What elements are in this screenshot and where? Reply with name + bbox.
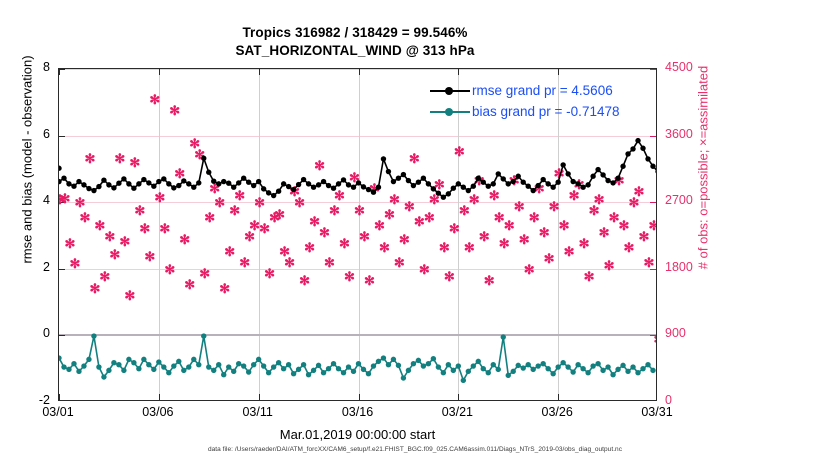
series-marker: [540, 177, 545, 182]
series-marker: [316, 182, 321, 187]
series-marker: [121, 368, 126, 373]
series-marker: [610, 180, 615, 185]
series-marker: [560, 360, 565, 365]
series-marker: [496, 367, 501, 372]
series-marker: [291, 187, 296, 192]
series-marker: [61, 176, 66, 181]
series-marker: [206, 170, 211, 175]
series-marker: [645, 156, 650, 161]
series-marker: [221, 179, 226, 184]
series-marker: [116, 181, 121, 186]
series-marker: [555, 180, 560, 185]
series-marker: [516, 174, 521, 179]
y-axis-ticklabel-left: 2: [10, 260, 50, 274]
y-axis-ticklabel-left: 4: [10, 193, 50, 207]
legend-item-bias[interactable]: bias grand pr = -0.71478: [428, 101, 653, 122]
series-marker: [361, 367, 366, 372]
series-marker: [201, 333, 206, 338]
x-axis-label: Mar.01,2019 00:00:00 start: [58, 427, 657, 442]
series-marker: [341, 177, 346, 182]
series-marker: [136, 366, 141, 371]
series-marker: [186, 181, 191, 186]
series-marker: [311, 368, 316, 373]
series-marker: [246, 180, 251, 185]
x-axis-ticklabel: 03/11: [223, 405, 293, 419]
series-marker: [361, 184, 366, 189]
series-marker: [521, 365, 526, 370]
series-marker: [585, 370, 590, 375]
x-axis-ticklabel: 03/06: [123, 405, 193, 419]
series-marker: [101, 374, 106, 379]
series-marker: [286, 362, 291, 367]
series-marker: [570, 179, 575, 184]
y-axis-ticklabel-right: 3600: [665, 127, 715, 141]
series-marker: [301, 362, 306, 367]
series-marker: [645, 362, 650, 367]
series-marker: [600, 172, 605, 177]
series-marker: [321, 179, 326, 184]
series-marker: [376, 359, 381, 364]
series-marker: [91, 188, 96, 193]
series-marker: [401, 172, 406, 177]
series-marker: [351, 185, 356, 190]
series-marker: [595, 167, 600, 172]
series-marker: [545, 366, 550, 371]
y-axis-label-right: # of obs: o=possible; ×=assimilated: [696, 3, 711, 333]
series-marker: [346, 364, 351, 369]
series-marker: [531, 367, 536, 372]
series-marker: [580, 366, 585, 371]
series-marker: [96, 184, 101, 189]
series-marker: [186, 364, 191, 369]
series-marker: [246, 369, 251, 374]
x-axis-ticklabel: 03/26: [522, 405, 592, 419]
series-marker: [416, 180, 421, 185]
series-marker: [640, 146, 645, 151]
series-line: [59, 141, 656, 198]
series-marker: [501, 334, 506, 339]
series-marker: [421, 363, 426, 368]
series-marker: [565, 364, 570, 369]
series-marker: [456, 181, 461, 186]
series-marker: [131, 186, 136, 191]
series-marker: [126, 357, 131, 362]
series-marker: [61, 364, 66, 369]
y-axis-ticklabel-right: 2700: [665, 193, 715, 207]
series-marker: [570, 369, 575, 374]
series-marker: [531, 188, 536, 193]
series-marker: [266, 190, 271, 195]
series-marker: [451, 186, 456, 191]
series-marker: [436, 364, 441, 369]
series-marker: [146, 362, 151, 367]
series-marker: [211, 368, 216, 373]
series-marker: [476, 359, 481, 364]
series-marker: [411, 361, 416, 366]
series-marker: [526, 362, 531, 367]
series-marker: [620, 164, 625, 169]
series-marker: [156, 179, 161, 184]
series-marker: [590, 174, 595, 179]
series-marker: [59, 166, 62, 171]
series-marker: [331, 361, 336, 366]
series-marker: [111, 360, 116, 365]
series-marker: [216, 181, 221, 186]
series-marker: [560, 162, 565, 167]
legend-swatch-rmse: [428, 84, 472, 98]
series-marker: [261, 363, 266, 368]
series-marker: [590, 363, 595, 368]
series-marker: [550, 185, 555, 190]
series-marker: [376, 185, 381, 190]
series-marker: [635, 138, 640, 143]
series-marker: [406, 368, 411, 373]
series-marker: [441, 195, 446, 200]
series-marker: [540, 361, 545, 366]
series-marker: [516, 363, 521, 368]
series-marker: [565, 171, 570, 176]
series-marker: [506, 373, 511, 378]
series-marker: [311, 185, 316, 190]
series-marker: [71, 361, 76, 366]
series-marker: [256, 179, 261, 184]
y-axis-ticklabel-left: 0: [10, 326, 50, 340]
series-marker: [610, 372, 615, 377]
series-marker: [625, 151, 630, 156]
series-marker: [366, 187, 371, 192]
series-marker: [625, 369, 630, 374]
series-marker: [351, 369, 356, 374]
series-marker: [635, 370, 640, 375]
series-marker: [481, 180, 486, 185]
series-marker: [521, 180, 526, 185]
series-marker: [580, 185, 585, 190]
series-marker: [476, 176, 481, 181]
series-marker: [446, 362, 451, 367]
series-marker: [301, 177, 306, 182]
y-axis-label-left: rmse and bias (model - observation): [20, 0, 35, 325]
series-marker: [111, 185, 116, 190]
series-marker: [196, 180, 201, 185]
data-file-note: data file: /Users/raeder/DAI/ATM_forcXX/…: [0, 446, 830, 453]
series-marker: [550, 371, 555, 376]
series-marker: [241, 176, 246, 181]
series-marker: [585, 182, 590, 187]
series-marker: [236, 361, 241, 366]
series-marker: [536, 183, 541, 188]
series-marker: [421, 176, 426, 181]
series-marker: [166, 370, 171, 375]
series-marker: [86, 186, 91, 191]
series-marker: [371, 190, 376, 195]
series-marker: [401, 375, 406, 380]
series-marker: [630, 146, 635, 151]
series-marker: [291, 371, 296, 376]
series-marker: [216, 362, 221, 367]
series-marker: [501, 176, 506, 181]
series-marker: [506, 181, 511, 186]
series-marker: [251, 362, 256, 367]
series-marker: [336, 366, 341, 371]
series-marker: [66, 181, 71, 186]
series-marker: [171, 363, 176, 368]
x-axis-ticklabel: 03/16: [323, 405, 393, 419]
x-axis-ticklabel: 03/21: [422, 405, 492, 419]
series-marker: [461, 185, 466, 190]
series-marker: [620, 363, 625, 368]
series-marker: [545, 181, 550, 186]
series-marker: [76, 179, 81, 184]
series-marker: [511, 179, 516, 184]
series-marker: [471, 184, 476, 189]
series-marker: [650, 368, 655, 373]
series-marker: [271, 364, 276, 369]
chart-title-line-1: Tropics 316982 / 318429 = 99.546%: [0, 24, 710, 42]
series-marker: [226, 181, 231, 186]
series-marker: [76, 369, 81, 374]
series-marker: [71, 184, 76, 189]
series-marker: [86, 357, 91, 362]
chart-title: Tropics 316982 / 318429 = 99.546% SAT_HO…: [0, 24, 710, 60]
series-marker: [281, 181, 286, 186]
series-marker: [81, 363, 86, 368]
series-marker: [206, 364, 211, 369]
series-marker: [575, 181, 580, 186]
series-marker: [176, 183, 181, 188]
series-marker: [116, 362, 121, 367]
series-marker: [411, 183, 416, 188]
series-marker: [146, 180, 151, 185]
series-marker: [196, 362, 201, 367]
series-marker: [286, 184, 291, 189]
legend-item-rmse[interactable]: rmse grand pr = 4.5606: [428, 80, 653, 101]
series-marker: [466, 369, 471, 374]
series-marker: [316, 363, 321, 368]
series-marker: [151, 367, 156, 372]
series-marker: [615, 367, 620, 372]
y-axis-ticklabel-right: 1800: [665, 260, 715, 274]
series-marker: [536, 363, 541, 368]
series-marker: [381, 156, 386, 161]
series-marker: [366, 371, 371, 376]
series-marker: [221, 372, 226, 377]
series-marker: [59, 355, 62, 360]
series-marker: [171, 185, 176, 190]
series-marker: [640, 366, 645, 371]
series-marker: [391, 357, 396, 362]
series-marker: [406, 178, 411, 183]
series-marker: [605, 364, 610, 369]
series-marker: [471, 363, 476, 368]
series-marker: [481, 366, 486, 371]
series-marker: [426, 181, 431, 186]
series-marker: [306, 181, 311, 186]
series-marker: [386, 362, 391, 367]
series-marker: [391, 179, 396, 184]
series-marker: [386, 169, 391, 174]
legend-label-rmse: rmse grand pr = 4.5606: [472, 83, 613, 98]
series-marker: [451, 368, 456, 373]
series-marker: [341, 370, 346, 375]
y-axis-ticklabel-left: 8: [10, 60, 50, 74]
series-marker: [605, 178, 610, 183]
series-marker: [381, 355, 386, 360]
series-marker: [555, 364, 560, 369]
series-marker: [236, 180, 241, 185]
series-marker: [486, 184, 491, 189]
series-marker: [266, 370, 271, 375]
series-marker: [600, 368, 605, 373]
series-marker: [346, 182, 351, 187]
series-marker: [426, 361, 431, 366]
legend-label-bias: bias grand pr = -0.71478: [472, 104, 619, 119]
series-marker: [126, 181, 131, 186]
series-marker: [396, 363, 401, 368]
y-axis-ticklabel-right: 900: [665, 326, 715, 340]
series-marker: [486, 370, 491, 375]
series-marker: [231, 185, 236, 190]
series-marker: [511, 369, 516, 374]
series-marker: [136, 181, 141, 186]
series-marker: [356, 180, 361, 185]
series-marker: [326, 183, 331, 188]
series-marker: [331, 186, 336, 191]
series-marker: [81, 182, 86, 187]
series-marker: [336, 181, 341, 186]
series-marker: [191, 185, 196, 190]
series-marker: [256, 357, 261, 362]
series-marker: [121, 176, 126, 181]
series-marker: [466, 188, 471, 193]
series-marker: [226, 364, 231, 369]
series-marker: [201, 156, 206, 161]
series-marker: [261, 186, 266, 191]
series-marker: [306, 372, 311, 377]
series-marker: [441, 370, 446, 375]
series-marker: [371, 363, 376, 368]
series-marker: [101, 178, 106, 183]
series-marker: [181, 368, 186, 373]
x-axis-ticklabel: 03/01: [23, 405, 93, 419]
series-marker: [151, 184, 156, 189]
series-marker: [106, 182, 111, 187]
series-marker: [456, 363, 461, 368]
series-marker: [575, 362, 580, 367]
series-marker: [166, 181, 171, 186]
series-marker: [276, 360, 281, 365]
series-marker: [446, 191, 451, 196]
series-marker: [276, 189, 281, 194]
series-marker: [161, 176, 166, 181]
series-marker: [231, 369, 236, 374]
series-marker: [396, 176, 401, 181]
series-marker: [141, 357, 146, 362]
y-axis-ticklabel-left: 6: [10, 127, 50, 141]
series-marker: [106, 368, 111, 373]
series-marker: [251, 183, 256, 188]
series-marker: [630, 364, 635, 369]
series-marker: [326, 366, 331, 371]
chart-legend: rmse grand pr = 4.5606 bias grand pr = -…: [428, 80, 653, 122]
series-marker: [526, 184, 531, 189]
series-marker: [91, 333, 96, 338]
x-axis-ticklabel: 03/31: [622, 405, 692, 419]
series-marker: [431, 186, 436, 191]
series-marker: [161, 364, 166, 369]
series-marker: [650, 164, 655, 169]
series-marker: [461, 378, 466, 383]
series-marker: [271, 193, 276, 198]
series-marker: [211, 179, 216, 184]
series-marker: [615, 176, 620, 181]
y-axis-ticklabel-right: 4500: [665, 60, 715, 74]
series-marker: [281, 366, 286, 371]
series-marker: [141, 177, 146, 182]
series-marker: [176, 359, 181, 364]
series-marker: [96, 364, 101, 369]
series-marker: [595, 361, 600, 366]
series-line: [59, 336, 653, 380]
series-marker: [416, 358, 421, 363]
series-marker: [156, 359, 161, 364]
series-marker: [296, 182, 301, 187]
series-marker: [436, 191, 441, 196]
series-marker: [191, 357, 196, 362]
series-marker: [491, 362, 496, 367]
series-marker: [131, 360, 136, 365]
series-marker: [496, 171, 501, 176]
series-marker: [241, 363, 246, 368]
series-marker: [431, 356, 436, 361]
series-marker: [321, 370, 326, 375]
series-marker: [181, 178, 186, 183]
series-marker: [491, 181, 496, 186]
series-marker: [356, 361, 361, 366]
legend-swatch-bias: [428, 105, 472, 119]
series-marker: [296, 367, 301, 372]
series-marker: [66, 367, 71, 372]
chart-title-line-2: SAT_HORIZONTAL_WIND @ 313 hPa: [0, 42, 710, 60]
